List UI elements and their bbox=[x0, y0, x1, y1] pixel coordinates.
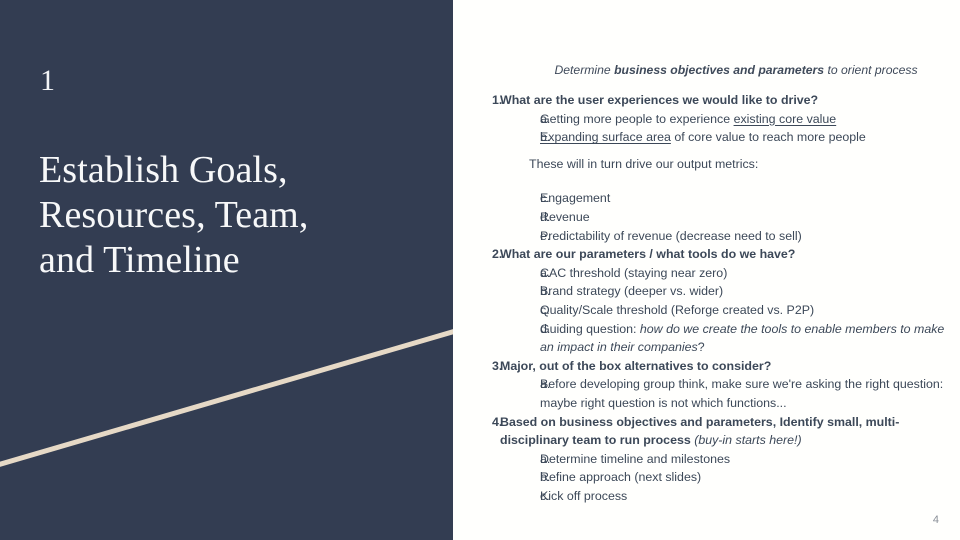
outline-submarker: c. bbox=[453, 189, 540, 208]
text-segment: ? bbox=[698, 340, 705, 354]
outline-subitem: a. Determine timeline and milestones bbox=[453, 450, 960, 469]
outline-subitem: a. Getting more people to experience exi… bbox=[453, 110, 960, 129]
outline-text: What are our parameters / what tools do … bbox=[500, 245, 960, 264]
outline-subitem: c. Quality/Scale threshold (Reforge crea… bbox=[453, 301, 960, 320]
outline-subtext: Determine timeline and milestones bbox=[540, 450, 960, 469]
title-panel: 1 Establish Goals, Resources, Team, and … bbox=[0, 0, 453, 540]
page-number: 4 bbox=[933, 513, 939, 527]
lede-suffix: to orient process bbox=[824, 63, 917, 77]
outline-submarker: d. bbox=[453, 320, 540, 339]
outline-submarker: c. bbox=[453, 301, 540, 320]
slide-canvas: 1 Establish Goals, Resources, Team, and … bbox=[0, 0, 960, 540]
section-number: 1 bbox=[40, 62, 55, 100]
text-segment-underlined: existing core value bbox=[734, 112, 837, 126]
outline-subtext: Guiding question: how do we create the t… bbox=[540, 320, 960, 357]
outline-subitem: e. Predictability of revenue (decrease n… bbox=[453, 227, 960, 246]
outline-subitem: d. Guiding question: how do we create th… bbox=[453, 320, 960, 357]
outline-subtext: Quality/Scale threshold (Reforge created… bbox=[540, 301, 960, 320]
outline-subtext: Before developing group think, make sure… bbox=[540, 375, 960, 412]
outline-marker: 4. bbox=[453, 413, 500, 432]
outline-text: Major, out of the box alternatives to co… bbox=[500, 357, 960, 376]
outline-subtext: Predictability of revenue (decrease need… bbox=[540, 227, 960, 246]
lede-emphasis: business objectives and parameters bbox=[614, 63, 824, 77]
outline-subtext: Refine approach (next slides) bbox=[540, 468, 960, 487]
outline-submarker: a. bbox=[453, 110, 540, 129]
lede-statement: Determine business objectives and parame… bbox=[520, 62, 952, 78]
page-title-line-1: Establish Goals, bbox=[39, 148, 409, 193]
outline-text: What are the user experiences we would l… bbox=[500, 91, 960, 110]
page-title-line-2: Resources, Team, bbox=[39, 193, 409, 238]
text-segment-italic: (buy-in starts here!) bbox=[691, 433, 802, 447]
outline-item: 3. Major, out of the box alternatives to… bbox=[453, 357, 960, 376]
outline-submarker: a. bbox=[453, 450, 540, 469]
outline-submarker: b. bbox=[453, 282, 540, 301]
outline-subitem: a. CAC threshold (staying near zero) bbox=[453, 264, 960, 283]
outline-subitem: c. Kick off process bbox=[453, 487, 960, 506]
outline-submarker: e. bbox=[453, 227, 540, 246]
outline-subitem: b. Brand strategy (deeper vs. wider) bbox=[453, 282, 960, 301]
interstitial-note: These will in turn drive our output metr… bbox=[453, 147, 960, 190]
outline-submarker: a. bbox=[453, 375, 540, 394]
lede-prefix: Determine bbox=[554, 63, 614, 77]
outline-item: 2. What are our parameters / what tools … bbox=[453, 245, 960, 264]
text-segment: Getting more people to experience bbox=[540, 112, 734, 126]
outline-subtext: Brand strategy (deeper vs. wider) bbox=[540, 282, 960, 301]
outline-subitem: b. Expanding surface area of core value … bbox=[453, 128, 960, 147]
outline-marker: 2. bbox=[453, 245, 500, 264]
outline-submarker: c. bbox=[453, 487, 540, 506]
outline-subtext: Engagement bbox=[540, 189, 960, 208]
outline-subtext: Expanding surface area of core value to … bbox=[540, 128, 960, 147]
outline-marker: 3. bbox=[453, 357, 500, 376]
outline-list: 1. What are the user experiences we woul… bbox=[453, 91, 960, 505]
outline-subitem: b. Refine approach (next slides) bbox=[453, 468, 960, 487]
outline-submarker: a. bbox=[453, 264, 540, 283]
page-title: Establish Goals, Resources, Team, and Ti… bbox=[39, 148, 409, 283]
outline-subtext: Revenue bbox=[540, 208, 960, 227]
text-segment-underlined: Expanding surface area bbox=[540, 130, 671, 144]
outline-marker: 1. bbox=[453, 91, 500, 110]
content-panel: Determine business objectives and parame… bbox=[453, 0, 960, 540]
outline-subtext: CAC threshold (staying near zero) bbox=[540, 264, 960, 283]
text-segment: Guiding question: bbox=[540, 322, 640, 336]
outline-subitem: a. Before developing group think, make s… bbox=[453, 375, 960, 412]
outline-text: Based on business objectives and paramet… bbox=[500, 413, 960, 450]
outline-item: 1. What are the user experiences we woul… bbox=[453, 91, 960, 110]
text-segment: of core value to reach more people bbox=[671, 130, 866, 144]
outline-submarker: b. bbox=[453, 128, 540, 147]
page-title-line-3: and Timeline bbox=[39, 238, 409, 283]
outline-item: 4. Based on business objectives and para… bbox=[453, 413, 960, 450]
outline-submarker: d. bbox=[453, 208, 540, 227]
outline-submarker: b. bbox=[453, 468, 540, 487]
outline-subtext: Getting more people to experience existi… bbox=[540, 110, 960, 129]
outline-subitem: c. Engagement bbox=[453, 189, 960, 208]
outline-subtext: Kick off process bbox=[540, 487, 960, 506]
outline-subitem: d. Revenue bbox=[453, 208, 960, 227]
